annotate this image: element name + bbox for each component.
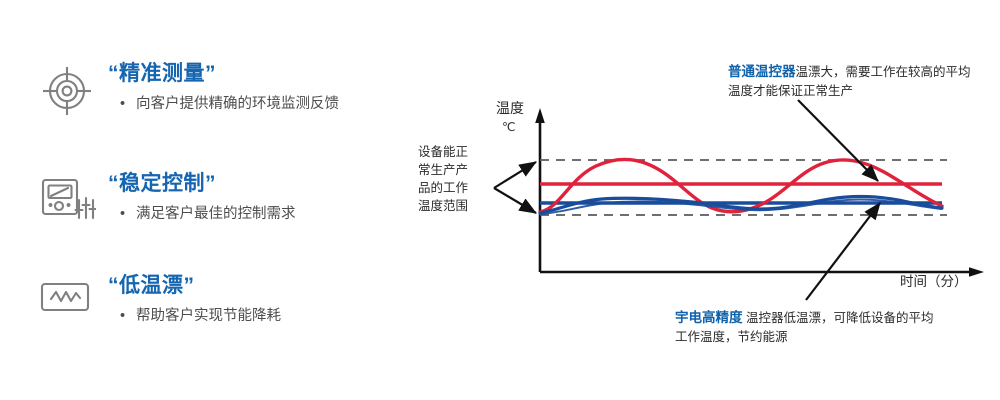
callout-bottom-leader-line (806, 203, 880, 300)
feature-title: “精准测量” (108, 62, 428, 85)
y-axis-arrowhead (535, 108, 545, 123)
feature-bullet-text: 满足客户最佳的控制需求 (136, 206, 296, 222)
range-arrow-upper (494, 162, 536, 188)
feature-title: “稳定控制” (108, 172, 428, 195)
callout-precision-thermostat: 宇电高精度 温控器低温漂，可降低设备的平均工作温度，节约能源 (675, 308, 935, 346)
feature-text-block: “稳定控制” • 满足客户最佳的控制需求 (108, 172, 428, 224)
bullet-marker: • (120, 306, 125, 326)
range-arrow-lower (494, 188, 536, 213)
x-axis-arrowhead (969, 267, 984, 277)
feature-list: “精准测量” • 向客户提供精确的环境监测反馈 (0, 0, 430, 400)
bullet-marker: • (120, 94, 125, 114)
x-axis-label: 时间（分） (900, 272, 968, 292)
feature-bullet: • 向客户提供精确的环境监测反馈 (108, 94, 428, 114)
waveform-box-icon (38, 274, 96, 332)
feature-bullet-text: 向客户提供精确的环境监测反馈 (136, 96, 339, 112)
target-crosshair-icon (38, 62, 96, 120)
feature-text-block: “精准测量” • 向客户提供精确的环境监测反馈 (108, 62, 428, 114)
y-axis-unit-label: ℃ (502, 119, 515, 136)
temperature-drift-chart: 设备能正常生产产品的工作温度范围 温度 ℃ 时间（分） 普通温控器温漂大，需要工… (410, 0, 1000, 400)
working-temperature-range-label: 设备能正常生产产品的工作温度范围 (418, 143, 480, 216)
feature-text-block: “低温漂” • 帮助客户实现节能降耗 (108, 274, 428, 326)
feature-title: “低温漂” (108, 274, 428, 297)
multimeter-slider-icon (38, 172, 96, 230)
callout-top-emphasis: 普通温控器 (728, 64, 796, 79)
feature-bullet-text: 帮助客户实现节能降耗 (136, 308, 281, 324)
feature-bullet: • 帮助客户实现节能降耗 (108, 306, 428, 326)
callout-ordinary-thermostat: 普通温控器温漂大，需要工作在较高的平均温度才能保证正常生产 (728, 62, 978, 100)
bullet-marker: • (120, 204, 125, 224)
callout-bottom-emphasis: 宇电高精度 (675, 310, 743, 325)
y-axis-label: 温度 (496, 98, 524, 118)
feature-bullet: • 满足客户最佳的控制需求 (108, 204, 428, 224)
